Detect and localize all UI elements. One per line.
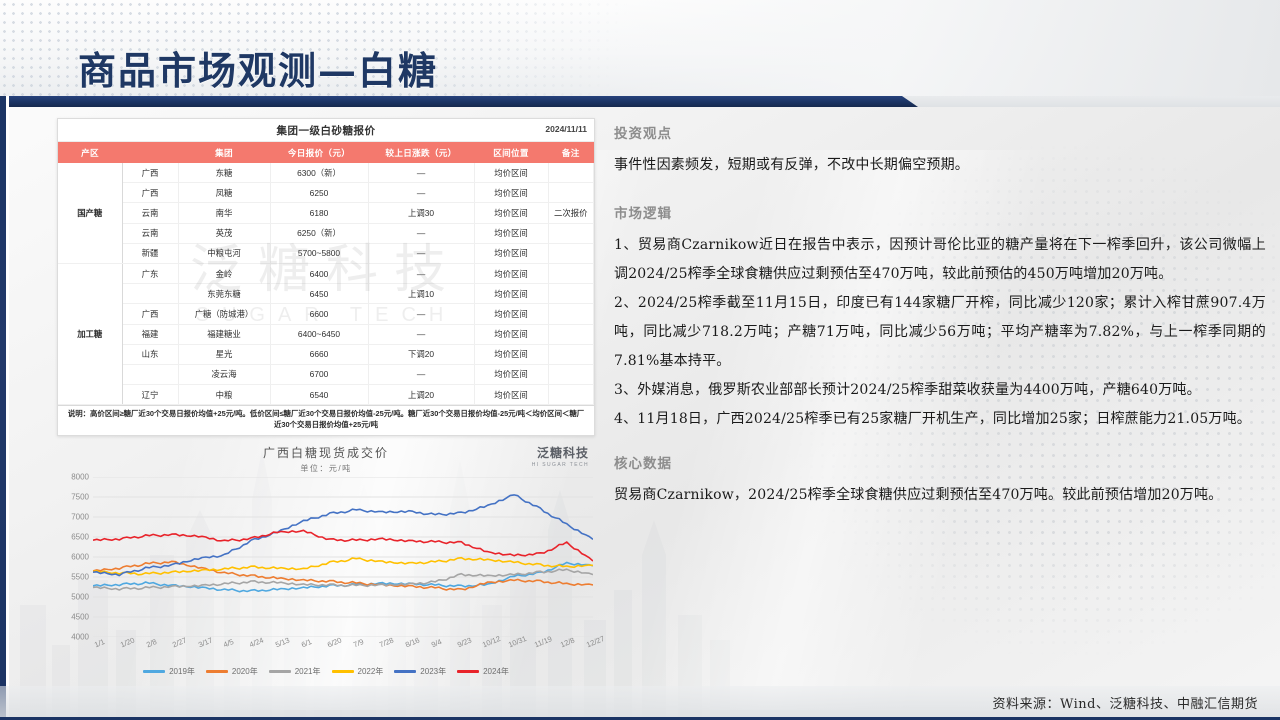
cell-band: 均价区间 <box>474 223 548 243</box>
cell-change: — <box>368 223 474 243</box>
legend-swatch-icon <box>269 670 291 673</box>
cell-price: 6700 <box>270 364 368 384</box>
legend-label: 2019年 <box>169 666 195 677</box>
legend-item[interactable]: 2023年 <box>394 666 446 677</box>
table-group-label: 加工糖 <box>58 263 122 404</box>
chart-x-tick: 10/12 <box>481 634 502 649</box>
cell-group: 广糖（防城港） <box>178 304 270 324</box>
cell-region: 广西 <box>122 304 178 324</box>
cell-note: 二次报价 <box>548 203 594 223</box>
cell-price: 6400~6450 <box>270 324 368 344</box>
col-change: 较上日涨跌（元） <box>368 142 474 163</box>
cell-price: 6250 <box>270 183 368 203</box>
price-chart-card: 广西白糖现货成交价 单位：元/吨 泛糖科技 HI SUGAR TECH 4000… <box>57 444 595 694</box>
cell-note <box>548 243 594 263</box>
legend-swatch-icon <box>394 670 416 673</box>
cell-region: 广东 <box>122 263 178 283</box>
cell-change: — <box>368 364 474 384</box>
chart-y-tick: 6500 <box>71 532 89 541</box>
legend-item[interactable]: 2019年 <box>143 666 195 677</box>
cell-region: 云南 <box>122 203 178 223</box>
table-row: 福建福建糖业6400~6450—均价区间 <box>58 324 594 344</box>
chart-logo: 泛糖科技 HI SUGAR TECH <box>532 444 589 468</box>
table-date: 2024/11/11 <box>545 124 587 134</box>
chart-x-tick: 2/27 <box>171 635 188 649</box>
cell-price: 6540 <box>270 385 368 405</box>
legend-label: 2020年 <box>232 666 258 677</box>
cell-band: 均价区间 <box>474 385 548 405</box>
chart-x-tick: 6/1 <box>300 637 313 649</box>
chart-x-tick: 9/4 <box>430 637 443 649</box>
legend-label: 2024年 <box>483 666 509 677</box>
chart-logo-sub: HI SUGAR TECH <box>532 462 589 468</box>
market-logic-list: 1、贸易商Czarnikow近日在报告中表示，因预计哥伦比亚的糖产量将在下一榨季… <box>614 231 1266 434</box>
chart-x-tick: 7/9 <box>352 637 365 649</box>
chart-y-tick: 8000 <box>71 472 89 481</box>
cell-group: 中粮屯河 <box>178 243 270 263</box>
cell-note <box>548 263 594 283</box>
right-column: 投资观点 事件性因素频发，短期或有反弹，不改中长期偏空预期。 市场逻辑 1、贸易… <box>614 122 1266 510</box>
cell-band: 均价区间 <box>474 304 548 324</box>
cell-band: 均价区间 <box>474 324 548 344</box>
chart-logo-name: 泛糖科技 <box>532 444 589 461</box>
col-band: 区间位置 <box>474 142 548 163</box>
chart-x-tick: 3/17 <box>197 635 214 649</box>
cell-group: 福建糖业 <box>178 324 270 344</box>
col-note: 备注 <box>548 142 594 163</box>
cell-price: 6400 <box>270 263 368 283</box>
cell-group: 东莞东糖 <box>178 284 270 304</box>
table-row: 凌云海6700—均价区间 <box>58 364 594 384</box>
chart-x-tick: 5/13 <box>274 635 291 649</box>
cell-group: 凌云海 <box>178 364 270 384</box>
left-column: 泛糖科技 SUGAR TECH 集团一级白砂糖报价 2024/11/11 产区 … <box>57 118 597 694</box>
cell-change: 上调10 <box>368 284 474 304</box>
cell-region <box>122 364 178 384</box>
table-body: 国产糖广西东糖6300（新）—均价区间广西凤糖6250—均价区间云南南华6180… <box>58 163 594 405</box>
cell-band: 均价区间 <box>474 243 548 263</box>
cell-group: 英茂 <box>178 223 270 243</box>
col-region2 <box>122 142 178 163</box>
table-row: 国产糖广西东糖6300（新）—均价区间 <box>58 163 594 183</box>
cell-group: 东糖 <box>178 163 270 183</box>
cell-change: — <box>368 324 474 344</box>
cell-region: 福建 <box>122 324 178 344</box>
cell-region: 广西 <box>122 163 178 183</box>
table-row: 广西广糖（防城港）6600—均价区间 <box>58 304 594 324</box>
cell-band: 均价区间 <box>474 183 548 203</box>
chart-x-tick: 8/16 <box>404 635 421 649</box>
table-row: 广西凤糖6250—均价区间 <box>58 183 594 203</box>
chart-x-tick: 12/27 <box>585 634 606 649</box>
cell-band: 均价区间 <box>474 344 548 364</box>
legend-swatch-icon <box>206 670 228 673</box>
header-accent-bar <box>0 96 918 107</box>
core-data-text: 贸易商Czarnikow，2024/25榨季全球食糖供应过剩预估至470万吨。较… <box>614 481 1266 510</box>
cell-note <box>548 284 594 304</box>
quote-table-card: 泛糖科技 SUGAR TECH 集团一级白砂糖报价 2024/11/11 产区 … <box>57 118 595 436</box>
table-caption-bar: 集团一级白砂糖报价 2024/11/11 <box>58 119 594 142</box>
cell-band: 均价区间 <box>474 284 548 304</box>
cell-group: 星光 <box>178 344 270 364</box>
cell-change: 上调30 <box>368 203 474 223</box>
chart-y-tick: 6000 <box>71 552 89 561</box>
cell-band: 均价区间 <box>474 203 548 223</box>
col-region: 产区 <box>58 142 122 163</box>
chart-y-tick: 4000 <box>71 632 89 641</box>
cell-region: 云南 <box>122 223 178 243</box>
quote-table: 产区 集团 今日报价（元） 较上日涨跌（元） 区间位置 备注 国产糖广西东糖63… <box>58 142 594 405</box>
cell-note <box>548 163 594 183</box>
market-logic-item: 3、外媒消息，俄罗斯农业部部长预计2024/25榨季甜菜收获量为4400万吨，产… <box>614 376 1266 405</box>
page-title: 商品市场观测—白糖 <box>78 40 438 95</box>
legend-item[interactable]: 2020年 <box>206 666 258 677</box>
table-row: 云南英茂6250（新）—均价区间 <box>58 223 594 243</box>
chart-y-tick: 4500 <box>71 612 89 621</box>
cell-note <box>548 223 594 243</box>
chart-title: 广西白糖现货成交价 <box>57 444 595 461</box>
chart-subtitle: 单位：元/吨 <box>57 463 595 474</box>
investment-view-heading: 投资观点 <box>614 122 1266 142</box>
chart-y-tick: 7500 <box>71 492 89 501</box>
table-row: 加工糖广东金岭6400—均价区间 <box>58 263 594 283</box>
cell-note <box>548 304 594 324</box>
table-row: 东莞东糖6450上调10均价区间 <box>58 284 594 304</box>
chart-x-tick: 4/24 <box>248 635 265 649</box>
legend-item[interactable]: 2024年 <box>457 666 509 677</box>
chart-y-tick: 5500 <box>71 572 89 581</box>
legend-item[interactable]: 2022年 <box>332 666 384 677</box>
table-footnote: 说明：高价区间≥糖厂近30个交易日报价均值+25元/吨。低价区间≤糖厂近30个交… <box>58 405 594 434</box>
slide: 商品市场观测—白糖 泛糖科技 SUGAR TECH 集团一级白砂糖报价 2024… <box>0 0 1280 720</box>
table-group-label: 国产糖 <box>58 163 122 263</box>
cell-price: 6250（新） <box>270 223 368 243</box>
cell-group: 金岭 <box>178 263 270 283</box>
cell-note <box>548 183 594 203</box>
cell-price: 5700~5800 <box>270 243 368 263</box>
cell-change: — <box>368 243 474 263</box>
left-stripe-inner <box>6 96 9 720</box>
market-logic-heading: 市场逻辑 <box>614 202 1266 222</box>
col-price: 今日报价（元） <box>270 142 368 163</box>
table-row: 新疆中粮屯河5700~5800—均价区间 <box>58 243 594 263</box>
cell-group: 凤糖 <box>178 183 270 203</box>
cell-group: 中粮 <box>178 385 270 405</box>
chart-x-tick: 12/8 <box>559 635 576 649</box>
cell-change: — <box>368 304 474 324</box>
chart-x-tick: 10/31 <box>507 634 528 649</box>
table-caption: 集团一级白砂糖报价 <box>58 123 594 138</box>
market-logic-item: 2、2024/25榨季截至11月15日，印度已有144家糖厂开榨，同比减少120… <box>614 289 1266 376</box>
cell-region: 新疆 <box>122 243 178 263</box>
legend-item[interactable]: 2021年 <box>269 666 321 677</box>
investment-view-text: 事件性因素频发，短期或有反弹，不改中长期偏空预期。 <box>614 151 1266 180</box>
cell-region <box>122 284 178 304</box>
header-bar-tail <box>900 96 1280 107</box>
legend-label: 2021年 <box>295 666 321 677</box>
table-row: 辽宁中粮6540上调20均价区间 <box>58 385 594 405</box>
legend-label: 2022年 <box>358 666 384 677</box>
chart-x-tick: 2/8 <box>145 637 158 649</box>
cell-region: 广西 <box>122 183 178 203</box>
table-row: 山东星光6660下调20均价区间 <box>58 344 594 364</box>
chart-x-tick: 6/20 <box>326 635 343 649</box>
cell-price: 6300（新） <box>270 163 368 183</box>
cell-note <box>548 364 594 384</box>
cell-note <box>548 324 594 344</box>
cell-change: 上调20 <box>368 385 474 405</box>
core-data-heading: 核心数据 <box>614 452 1266 472</box>
cell-change: — <box>368 163 474 183</box>
market-logic-item: 4、11月18日，广西2024/25榨季已有25家糖厂开机生产，同比增加25家；… <box>614 405 1266 434</box>
cell-price: 6450 <box>270 284 368 304</box>
cell-region: 辽宁 <box>122 385 178 405</box>
cell-change: 下调20 <box>368 344 474 364</box>
market-logic-item: 1、贸易商Czarnikow近日在报告中表示，因预计哥伦比亚的糖产量将在下一榨季… <box>614 231 1266 289</box>
cell-note <box>548 385 594 405</box>
chart-plot-area: 400045005000550060006500700075008000 1/1… <box>57 477 595 662</box>
chart-x-tick: 7/28 <box>378 635 395 649</box>
chart-y-tick: 7000 <box>71 512 89 521</box>
chart-y-axis: 400045005000550060006500700075008000 <box>57 477 89 637</box>
chart-x-tick: 1/1 <box>93 637 106 649</box>
cell-note <box>548 344 594 364</box>
chart-series-2024年 <box>93 530 593 561</box>
chart-legend: 2019年2020年2021年2022年2023年2024年 <box>57 666 595 677</box>
chart-x-axis: 1/11/202/82/273/174/54/245/136/16/207/97… <box>93 637 593 667</box>
chart-x-tick: 9/23 <box>456 635 473 649</box>
cell-price: 6180 <box>270 203 368 223</box>
cell-band: 均价区间 <box>474 364 548 384</box>
chart-lines <box>93 477 593 637</box>
cell-price: 6660 <box>270 344 368 364</box>
cell-change: — <box>368 263 474 283</box>
legend-swatch-icon <box>332 670 354 673</box>
chart-y-tick: 5000 <box>71 592 89 601</box>
chart-x-tick: 11/19 <box>533 634 553 649</box>
col-group: 集团 <box>178 142 270 163</box>
legend-swatch-icon <box>457 670 479 673</box>
cell-region: 山东 <box>122 344 178 364</box>
cell-group: 南华 <box>178 203 270 223</box>
table-row: 云南南华6180上调30均价区间二次报价 <box>58 203 594 223</box>
cell-band: 均价区间 <box>474 163 548 183</box>
legend-swatch-icon <box>143 670 165 673</box>
cell-band: 均价区间 <box>474 263 548 283</box>
cell-price: 6600 <box>270 304 368 324</box>
cell-change: — <box>368 183 474 203</box>
legend-label: 2023年 <box>420 666 446 677</box>
chart-x-tick: 4/5 <box>222 637 235 649</box>
core-data-block: 核心数据 贸易商Czarnikow，2024/25榨季全球食糖供应过剩预估至47… <box>614 452 1266 510</box>
source-text: 资料来源：Wind、泛糖科技、中融汇信期货 <box>993 693 1259 712</box>
chart-x-tick: 1/20 <box>119 635 136 649</box>
table-header-row: 产区 集团 今日报价（元） 较上日涨跌（元） 区间位置 备注 <box>58 142 594 163</box>
